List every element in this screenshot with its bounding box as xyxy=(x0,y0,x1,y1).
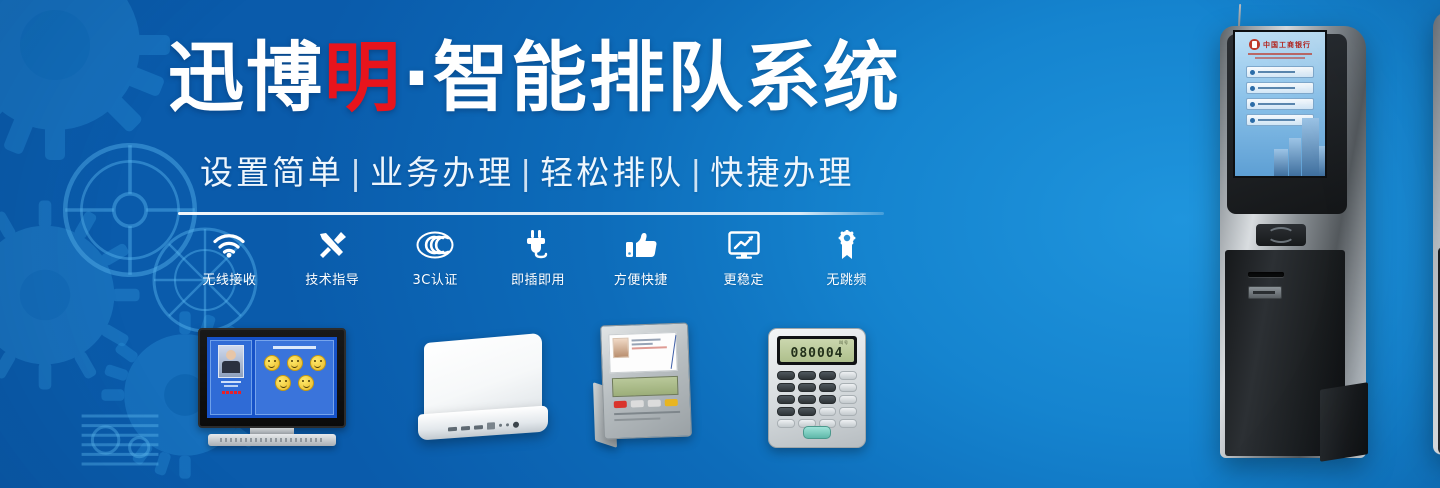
keypad-key[interactable] xyxy=(777,371,795,380)
keypad-key[interactable] xyxy=(777,419,795,428)
keypad-key[interactable] xyxy=(839,407,857,416)
banner-headline: 迅博明·智能排队系统 xyxy=(168,40,901,116)
keypad-key[interactable] xyxy=(839,419,857,428)
rating-button-grey[interactable] xyxy=(631,400,644,407)
feature-item-plug-and-play: 即插即用 xyxy=(487,228,590,288)
avatar xyxy=(226,350,236,360)
staff-photo xyxy=(218,345,244,378)
star-icon xyxy=(234,391,237,394)
keypad-display-value: 080004 xyxy=(780,346,854,361)
star-icon xyxy=(222,391,225,394)
product-showcase: 叫号 080004 xyxy=(190,320,910,470)
feature-item-stability: 更稳定 xyxy=(692,228,795,288)
keypad-screen-frame: 叫号 080004 xyxy=(777,336,857,365)
notice-line xyxy=(1248,53,1313,55)
feature-list: 无线接收 技术指导 xyxy=(178,228,898,290)
subtitle-item-4: 快捷办理 xyxy=(710,153,854,192)
keypad-key[interactable] xyxy=(839,395,857,404)
terminal-body xyxy=(600,322,692,439)
keypad-key[interactable] xyxy=(819,395,837,404)
rating-prompt-line xyxy=(273,346,316,349)
staff-name-line xyxy=(221,381,241,383)
bank-logo: 中国工商银行 xyxy=(1235,39,1325,50)
city-skyline-graphic xyxy=(1263,112,1325,176)
service-button[interactable] xyxy=(1246,98,1314,110)
keypad-key[interactable] xyxy=(777,407,795,416)
service-button[interactable] xyxy=(1246,82,1314,94)
smiley-face-icon xyxy=(310,355,326,371)
ethernet-port-icon xyxy=(487,422,495,430)
building-shape xyxy=(1302,118,1319,176)
id-line xyxy=(632,346,667,349)
staff-id-card xyxy=(608,332,677,373)
rating-button-grey[interactable] xyxy=(648,399,661,406)
promo-banner: 迅博明·智能排队系统 设置简单|业务办理|轻松排队|快捷办理 无线接收 xyxy=(0,0,1440,488)
feature-item-convenient: 方便快捷 xyxy=(589,228,692,288)
keypad-call-button[interactable] xyxy=(803,426,831,439)
feature-label: 3C认证 xyxy=(412,269,457,288)
printer-module xyxy=(1248,286,1282,299)
bank-logo-mark-icon xyxy=(1249,39,1260,50)
feature-item-wireless: 无线接收 xyxy=(178,228,281,288)
controller-box xyxy=(418,338,548,446)
rating-button-yellow[interactable] xyxy=(665,399,678,406)
keypad-key-grid xyxy=(777,371,857,428)
kiosk-touch-screen[interactable]: 中国工商银行 xyxy=(1233,30,1327,178)
feature-label: 无跳频 xyxy=(826,269,867,288)
avatar-body xyxy=(222,361,240,373)
service-icon xyxy=(1250,86,1255,91)
wifi-icon xyxy=(212,228,246,262)
terminal-label-line xyxy=(614,418,660,422)
staff-info-panel xyxy=(210,340,252,415)
service-icon xyxy=(1250,118,1255,123)
subtitle-item-1: 设置简单 xyxy=(200,153,344,192)
feature-item-tech-support: 技术指导 xyxy=(281,228,384,288)
rating-panel xyxy=(255,340,334,415)
keypad-key[interactable] xyxy=(819,407,837,416)
kiosk-group: 中国工商银行 xyxy=(960,0,1440,488)
caller-keypad: 叫号 080004 xyxy=(768,328,864,450)
smiley-face-icon xyxy=(287,355,303,371)
service-label-line xyxy=(1258,103,1295,105)
monitor-vents xyxy=(220,438,324,442)
id-photo xyxy=(612,338,629,359)
id-line xyxy=(632,338,661,341)
award-ribbon-icon xyxy=(834,228,860,262)
headline-part2: ·智能排队系统 xyxy=(402,33,901,122)
id-line xyxy=(632,343,653,346)
building-shape xyxy=(1289,138,1301,176)
kiosk-base xyxy=(1320,382,1368,462)
feature-item-3c-certification: 3C认证 xyxy=(384,228,487,288)
keypad-body: 叫号 080004 xyxy=(768,328,866,448)
terminal-button-row xyxy=(614,399,678,408)
thumbs-up-icon xyxy=(625,228,657,262)
evaluator-terminal xyxy=(590,324,694,452)
subtitle-separator: | xyxy=(684,153,710,192)
evaluation-monitor xyxy=(198,328,346,446)
queue-kiosk-abc: 中国农业银行 AGRICULTURAL BANK OF CHINA xyxy=(1430,8,1440,478)
feature-label: 即插即用 xyxy=(511,269,565,288)
service-label-line xyxy=(1258,71,1295,73)
smiley-face-icon xyxy=(275,375,291,391)
star-icon xyxy=(238,391,241,394)
rating-face-group xyxy=(260,355,329,391)
indicator-led-icon xyxy=(506,423,509,426)
card-reader[interactable] xyxy=(1256,224,1306,246)
service-icon xyxy=(1250,70,1255,75)
feature-label: 更稳定 xyxy=(723,269,764,288)
id-text-lines xyxy=(631,336,673,368)
feature-label: 方便快捷 xyxy=(614,269,668,288)
power-jack-icon xyxy=(513,421,519,427)
smiley-face-icon xyxy=(264,355,280,371)
terminal-label-line xyxy=(614,411,680,415)
section-divider xyxy=(178,212,884,215)
feature-item-no-frequency-hopping: 无跳频 xyxy=(795,228,898,288)
keypad-key[interactable] xyxy=(798,371,816,380)
feature-label: 无线接收 xyxy=(202,269,256,288)
monitor-base xyxy=(208,434,336,446)
keypad-key[interactable] xyxy=(839,371,857,380)
port-icon xyxy=(448,426,457,431)
indicator-led-icon xyxy=(499,424,502,427)
monitor-screen xyxy=(207,337,337,418)
service-icon xyxy=(1250,102,1255,107)
subtitle-separator: | xyxy=(344,153,370,192)
port-icon xyxy=(461,425,470,430)
star-rating xyxy=(222,391,241,394)
feature-label: 技术指导 xyxy=(305,269,359,288)
keypad-key[interactable] xyxy=(777,383,795,392)
tools-icon xyxy=(316,228,348,262)
monitor-bezel xyxy=(198,328,346,428)
staff-id-line xyxy=(224,385,238,387)
keypad-key[interactable] xyxy=(798,395,816,404)
keypad-key[interactable] xyxy=(839,383,857,392)
keypad-key[interactable] xyxy=(798,383,816,392)
keypad-key[interactable] xyxy=(819,371,837,380)
keypad-key[interactable] xyxy=(798,407,816,416)
smiley-face-icon xyxy=(298,375,314,391)
terminal-lcd-screen xyxy=(612,376,679,397)
gear-icon xyxy=(0,0,180,170)
keypad-key[interactable] xyxy=(777,395,795,404)
rating-button-red[interactable] xyxy=(614,401,627,408)
building-shape xyxy=(1319,146,1325,176)
notice-line xyxy=(1255,57,1305,59)
service-button[interactable] xyxy=(1246,66,1314,78)
subtitle-item-3: 轻松排队 xyxy=(540,153,684,192)
bank-name: 中国工商银行 xyxy=(1263,40,1311,50)
port-icon xyxy=(474,425,483,430)
ccc-certification-icon xyxy=(416,228,454,262)
monitor-chart-icon xyxy=(728,228,760,262)
subtitle-item-2: 业务办理 xyxy=(370,153,514,192)
power-plug-icon xyxy=(524,228,552,262)
headline-part1: 迅博 xyxy=(168,33,324,122)
gear-icon xyxy=(0,190,150,400)
ticket-slot xyxy=(1248,272,1284,277)
star-icon xyxy=(230,391,233,394)
keypad-lcd: 叫号 080004 xyxy=(780,339,854,362)
circuit-gear-icon xyxy=(60,380,180,488)
nfc-wave-icon xyxy=(1267,227,1295,243)
star-icon xyxy=(226,391,229,394)
banner-subtitle: 设置简单|业务办理|轻松排队|快捷办理 xyxy=(200,146,854,194)
building-shape xyxy=(1274,149,1288,176)
subtitle-separator: | xyxy=(514,153,540,192)
keypad-key[interactable] xyxy=(819,383,837,392)
service-label-line xyxy=(1258,87,1295,89)
headline-highlight: 明 xyxy=(324,33,402,122)
queue-kiosk-icbc: 中国工商银行 xyxy=(1220,18,1370,468)
